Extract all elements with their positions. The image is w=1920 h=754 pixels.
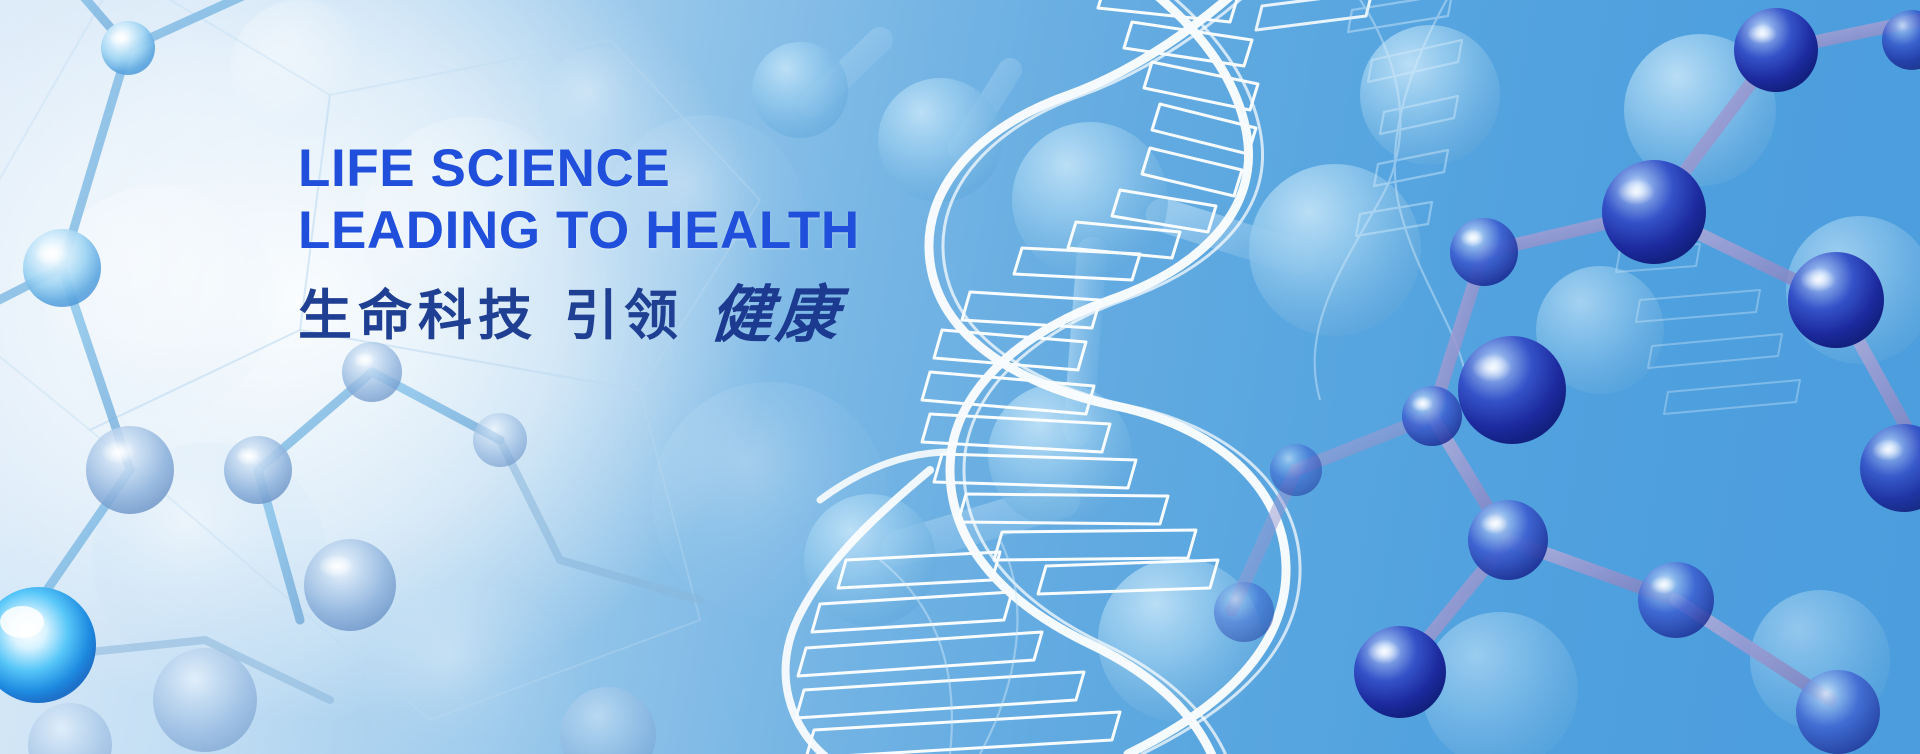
molecule-lattice-right [0, 0, 1920, 754]
ghost-bubbles-layer [0, 0, 1920, 754]
headline-line-2: LEADING TO HEALTH [298, 200, 860, 262]
headline-line-1: LIFE SCIENCE [298, 139, 670, 198]
life-science-banner: LIFE SCIENCE LEADING TO HEALTH 生命科技 引领 健… [0, 0, 1920, 754]
matte-spheres-layer [0, 0, 1920, 754]
headline-block: LIFE SCIENCE LEADING TO HEALTH 生命科技 引领 健… [298, 138, 860, 346]
page-title: LIFE SCIENCE LEADING TO HEALTH [298, 138, 860, 262]
dna-helix-ghost [0, 0, 1920, 754]
chinese-tagline: 生命科技 引领 健康 [298, 284, 860, 346]
chinese-primary-text: 生命科技 [298, 284, 538, 346]
molecule-lattice-left [0, 0, 1920, 754]
chinese-accent-text: 健康 [708, 284, 844, 346]
dna-helix-graphic [0, 0, 1920, 754]
chinese-secondary-text: 引领 [564, 284, 684, 346]
